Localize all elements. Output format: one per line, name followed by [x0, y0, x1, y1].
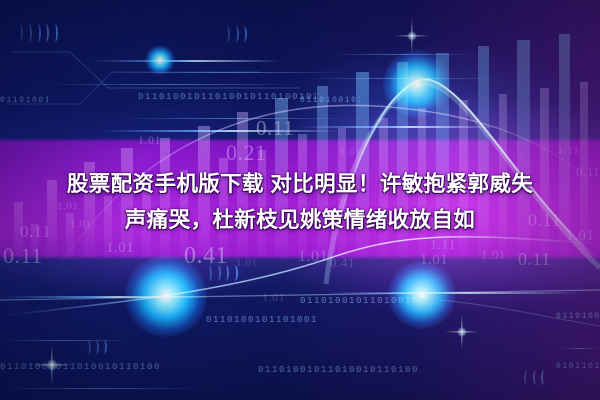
headline-line-2: 声痛哭，杜新枝见姚策情绪收放自如 — [6, 202, 594, 238]
headline-line-1: 股票配资手机版下载 对比明显！许敏抱紧郭威失 — [6, 166, 594, 202]
promo-banner: 0110100101101001011010010110100101101001… — [0, 0, 600, 400]
banner-headline: 股票配资手机版下载 对比明显！许敏抱紧郭威失 声痛哭，杜新枝见姚策情绪收放自如 — [0, 166, 600, 238]
